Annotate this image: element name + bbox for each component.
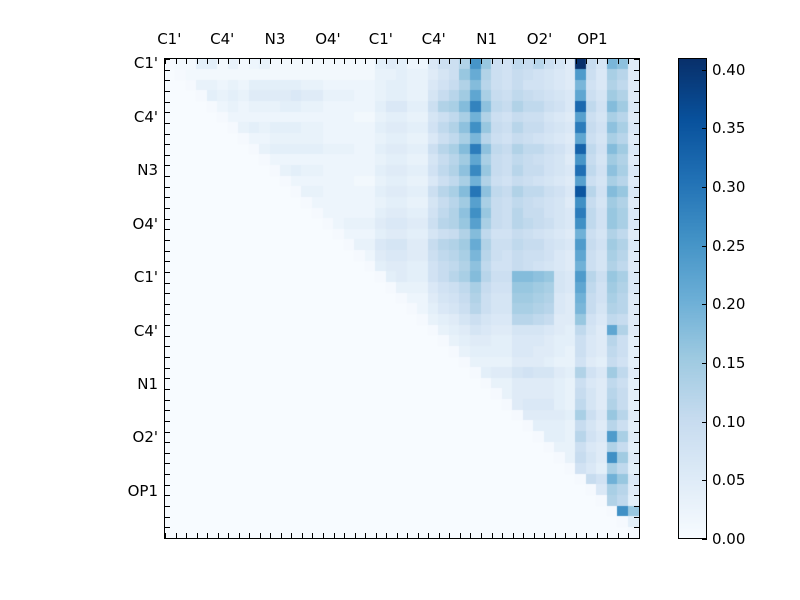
xaxis-tick-label: N3 (265, 30, 286, 48)
ytick-mark (165, 442, 170, 443)
figure-canvas: C1'C4'N3O4'C1'C4'N1O2'OP1 C1'C4'N3O4'C1'… (0, 0, 800, 600)
xtick-mark (439, 533, 440, 538)
ytick-mark (165, 463, 170, 464)
colorbar-tick-label: 0.00 (712, 530, 745, 548)
xtick-mark (365, 59, 366, 64)
ytick-mark (165, 389, 170, 390)
ytick-mark (634, 59, 639, 60)
xtick-mark (302, 533, 303, 538)
xtick-mark (281, 533, 282, 538)
xtick-mark (565, 59, 566, 64)
xtick-mark (270, 59, 271, 64)
colorbar-tick-label: 0.05 (712, 471, 745, 489)
xtick-mark (502, 59, 503, 64)
xtick-mark (555, 59, 556, 64)
ytick-mark (165, 155, 170, 156)
xtick-mark (460, 533, 461, 538)
xtick-mark (586, 59, 587, 64)
ytick-mark (634, 336, 639, 337)
xtick-mark (260, 59, 261, 64)
ytick-mark (634, 421, 639, 422)
yaxis-tick-label: C1' (134, 268, 158, 286)
ytick-mark (634, 123, 639, 124)
ytick-mark (165, 293, 170, 294)
colorbar-tick-label: 0.30 (712, 178, 745, 196)
ytick-mark (165, 123, 170, 124)
ytick-mark (165, 112, 170, 113)
xtick-mark (397, 59, 398, 64)
ytick-mark (634, 283, 639, 284)
xtick-mark (513, 59, 514, 64)
xtick-mark (607, 59, 608, 64)
ytick-mark (165, 102, 170, 103)
yaxis-tick-label: C1' (134, 54, 158, 72)
ytick-mark (165, 59, 170, 60)
xtick-mark (376, 533, 377, 538)
yaxis-tick-label: N1 (137, 375, 158, 393)
ytick-mark (634, 176, 639, 177)
ytick-mark (634, 400, 639, 401)
xtick-mark (218, 59, 219, 64)
ytick-mark (634, 70, 639, 71)
xtick-mark (207, 533, 208, 538)
ytick-mark (634, 229, 639, 230)
xtick-mark (312, 533, 313, 538)
xtick-mark (239, 533, 240, 538)
ytick-mark (634, 261, 639, 262)
xtick-mark (344, 533, 345, 538)
ytick-mark (165, 368, 170, 369)
colorbar-tick-label: 0.35 (712, 119, 745, 137)
ytick-mark (634, 144, 639, 145)
xtick-mark (218, 533, 219, 538)
xtick-mark (281, 59, 282, 64)
xtick-mark (639, 533, 640, 538)
colorbar-tick-label: 0.15 (712, 354, 745, 372)
colorbar-tick-mark (702, 70, 707, 71)
ytick-mark (165, 251, 170, 252)
colorbar-tick-mark (702, 539, 707, 540)
xtick-mark (534, 59, 535, 64)
xtick-mark (565, 533, 566, 538)
ytick-mark (165, 176, 170, 177)
ytick-mark (634, 463, 639, 464)
xtick-mark (355, 59, 356, 64)
ytick-mark (165, 187, 170, 188)
ytick-mark (634, 517, 639, 518)
ytick-mark (165, 197, 170, 198)
colorbar-tick-mark (702, 187, 707, 188)
ytick-mark (634, 495, 639, 496)
xtick-mark (386, 533, 387, 538)
ytick-mark (165, 283, 170, 284)
ytick-mark (634, 208, 639, 209)
ytick-mark (165, 495, 170, 496)
ytick-mark (165, 134, 170, 135)
ytick-mark (165, 70, 170, 71)
xtick-mark (618, 533, 619, 538)
xtick-mark (365, 533, 366, 538)
ytick-mark (165, 421, 170, 422)
ytick-mark (634, 357, 639, 358)
colorbar-tick-label: 0.10 (712, 413, 745, 431)
xtick-mark (270, 533, 271, 538)
xtick-mark (197, 533, 198, 538)
ytick-mark (634, 91, 639, 92)
xtick-mark (576, 59, 577, 64)
yaxis-tick-label: C4' (134, 108, 158, 126)
ytick-mark (634, 389, 639, 390)
ytick-mark (165, 314, 170, 315)
xtick-mark (312, 59, 313, 64)
ytick-mark (634, 378, 639, 379)
xtick-mark (597, 59, 598, 64)
xtick-mark (492, 59, 493, 64)
ytick-mark (165, 506, 170, 507)
yaxis-tick-label: OP1 (128, 482, 158, 500)
ytick-mark (634, 197, 639, 198)
ytick-mark (165, 304, 170, 305)
xaxis-tick-label: O4' (315, 30, 340, 48)
ytick-mark (165, 538, 170, 539)
xaxis-tick-label: O2' (527, 30, 552, 48)
ytick-mark (634, 442, 639, 443)
ytick-mark (634, 80, 639, 81)
ytick-mark (634, 219, 639, 220)
xtick-mark (291, 533, 292, 538)
xaxis-tick-label: C1' (157, 30, 181, 48)
xtick-mark (334, 59, 335, 64)
ytick-mark (634, 453, 639, 454)
xtick-mark (323, 59, 324, 64)
xtick-mark (228, 533, 229, 538)
ytick-mark (634, 187, 639, 188)
ytick-mark (634, 346, 639, 347)
ytick-mark (165, 517, 170, 518)
xtick-mark (323, 533, 324, 538)
xtick-mark (334, 533, 335, 538)
ytick-mark (634, 474, 639, 475)
xtick-mark (249, 533, 250, 538)
xaxis-tick-label: C4' (210, 30, 234, 48)
xtick-mark (534, 533, 535, 538)
xtick-mark (186, 533, 187, 538)
xtick-mark (628, 59, 629, 64)
xtick-mark (470, 59, 471, 64)
colorbar-tick-label: 0.40 (712, 61, 745, 79)
colorbar (678, 58, 707, 539)
xtick-mark (523, 533, 524, 538)
xtick-mark (492, 533, 493, 538)
ytick-mark (634, 410, 639, 411)
xtick-mark (555, 533, 556, 538)
xtick-mark (439, 59, 440, 64)
colorbar-tick-mark (702, 480, 707, 481)
xtick-mark (386, 59, 387, 64)
xtick-mark (302, 59, 303, 64)
ytick-mark (634, 314, 639, 315)
colorbar-tick-label: 0.20 (712, 295, 745, 313)
xtick-mark (176, 533, 177, 538)
ytick-mark (634, 304, 639, 305)
xtick-mark (176, 59, 177, 64)
xtick-mark (428, 533, 429, 538)
ytick-mark (165, 485, 170, 486)
ytick-mark (165, 219, 170, 220)
ytick-mark (634, 485, 639, 486)
ytick-mark (634, 112, 639, 113)
heatmap-axes (164, 58, 640, 539)
ytick-mark (165, 272, 170, 273)
xtick-mark (186, 59, 187, 64)
ytick-mark (165, 346, 170, 347)
xtick-mark (197, 59, 198, 64)
colorbar-gradient (679, 59, 706, 538)
ytick-mark (165, 410, 170, 411)
ytick-mark (634, 538, 639, 539)
ytick-mark (165, 165, 170, 166)
ytick-mark (165, 325, 170, 326)
xtick-mark (428, 59, 429, 64)
yaxis-tick-label: O4' (133, 215, 158, 233)
heatmap-image (165, 59, 639, 538)
colorbar-tick-mark (702, 246, 707, 247)
ytick-mark (634, 134, 639, 135)
colorbar-tick-label: 0.25 (712, 237, 745, 255)
colorbar-tick-mark (702, 422, 707, 423)
xtick-mark (544, 533, 545, 538)
colorbar-tick-mark (702, 304, 707, 305)
ytick-mark (634, 368, 639, 369)
xtick-mark (576, 533, 577, 538)
ytick-mark (165, 336, 170, 337)
ytick-mark (165, 208, 170, 209)
ytick-mark (165, 91, 170, 92)
xtick-mark (291, 59, 292, 64)
ytick-mark (165, 527, 170, 528)
ytick-mark (165, 261, 170, 262)
xtick-mark (418, 533, 419, 538)
xtick-mark (418, 59, 419, 64)
xtick-mark (260, 533, 261, 538)
yaxis-tick-label: O2' (133, 428, 158, 446)
xtick-mark (449, 533, 450, 538)
xaxis-tick-label: C1' (369, 30, 393, 48)
xtick-mark (481, 533, 482, 538)
xtick-mark (376, 59, 377, 64)
ytick-mark (165, 432, 170, 433)
xtick-mark (397, 533, 398, 538)
yaxis-tick-label: N3 (137, 161, 158, 179)
xtick-mark (407, 59, 408, 64)
xtick-mark (481, 59, 482, 64)
ytick-mark (634, 293, 639, 294)
ytick-mark (165, 378, 170, 379)
ytick-mark (634, 432, 639, 433)
ytick-mark (634, 240, 639, 241)
xtick-mark (460, 59, 461, 64)
xtick-mark (228, 59, 229, 64)
ytick-mark (165, 400, 170, 401)
colorbar-tick-mark (702, 363, 707, 364)
xtick-mark (355, 533, 356, 538)
ytick-mark (165, 229, 170, 230)
xtick-mark (239, 59, 240, 64)
xtick-mark (407, 533, 408, 538)
ytick-mark (165, 357, 170, 358)
ytick-mark (634, 102, 639, 103)
xtick-mark (502, 533, 503, 538)
xaxis-tick-label: OP1 (577, 30, 607, 48)
ytick-mark (165, 474, 170, 475)
xtick-mark (249, 59, 250, 64)
xaxis-tick-label: C4' (422, 30, 446, 48)
xtick-mark (344, 59, 345, 64)
xtick-mark (586, 533, 587, 538)
xtick-mark (639, 59, 640, 64)
xtick-mark (470, 533, 471, 538)
xtick-mark (207, 59, 208, 64)
xtick-mark (597, 533, 598, 538)
ytick-mark (634, 527, 639, 528)
colorbar-tick-mark (702, 128, 707, 129)
ytick-mark (634, 155, 639, 156)
ytick-mark (165, 144, 170, 145)
ytick-mark (634, 251, 639, 252)
ytick-mark (634, 272, 639, 273)
ytick-mark (634, 506, 639, 507)
ytick-mark (165, 453, 170, 454)
xtick-mark (628, 533, 629, 538)
xtick-mark (523, 59, 524, 64)
ytick-mark (634, 325, 639, 326)
ytick-mark (165, 240, 170, 241)
xtick-mark (544, 59, 545, 64)
xaxis-tick-label: N1 (476, 30, 497, 48)
xtick-mark (618, 59, 619, 64)
xtick-mark (513, 533, 514, 538)
yaxis-tick-label: C4' (134, 322, 158, 340)
ytick-mark (634, 165, 639, 166)
ytick-mark (165, 80, 170, 81)
xtick-mark (607, 533, 608, 538)
xtick-mark (449, 59, 450, 64)
